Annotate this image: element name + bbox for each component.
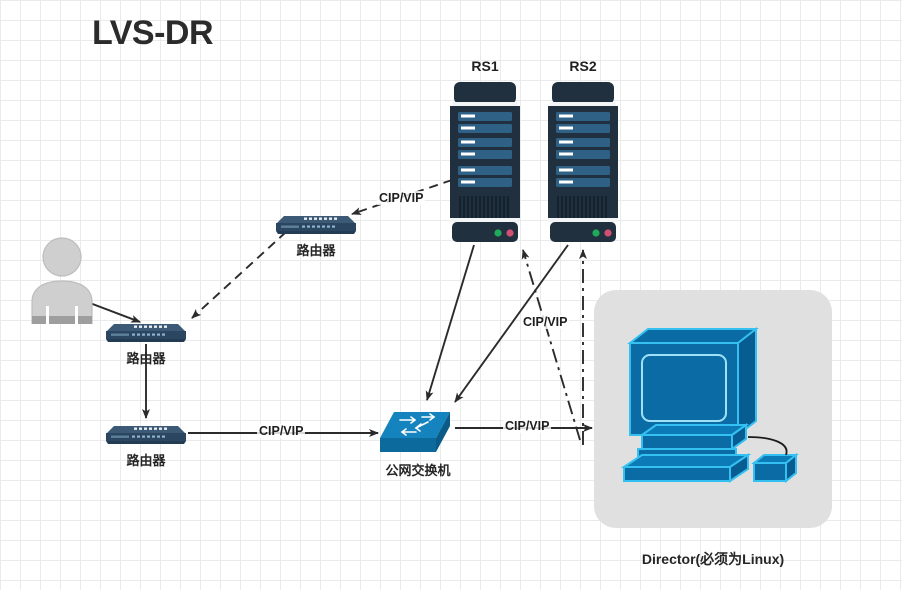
router-top-node — [276, 208, 356, 236]
person-icon — [26, 236, 98, 324]
switch-icon — [378, 408, 456, 460]
router-mid-label: 路由器 — [106, 348, 186, 367]
rs2-label: RS2 — [548, 58, 618, 74]
router-bottom-node — [106, 418, 186, 446]
router-icon — [106, 316, 186, 344]
edge-rs1-to-switch — [427, 245, 474, 400]
edge-label-cip-vip-bottom-right: CIP/VIP — [503, 419, 551, 433]
desktop-computer-icon — [620, 325, 810, 495]
router-bottom-label: 路由器 — [106, 450, 186, 469]
router-mid-node — [106, 316, 186, 344]
rs1-node — [450, 82, 520, 244]
server-icon — [548, 82, 618, 244]
director-label: Director(必须为Linux) — [603, 549, 823, 569]
switch-node — [378, 408, 456, 460]
director-node — [620, 325, 810, 495]
client-user-node — [26, 236, 98, 324]
server-icon — [450, 82, 520, 244]
rs2-node — [548, 82, 618, 244]
router-top-label: 路由器 — [276, 240, 356, 259]
edge-label-cip-vip-top: CIP/VIP — [377, 191, 425, 205]
diagram-canvas: LVS-DR — [0, 0, 902, 590]
switch-label: 公网交换机 — [368, 460, 468, 479]
router-icon — [106, 418, 186, 446]
rs1-label: RS1 — [450, 58, 520, 74]
edge-label-cip-vip-bottom-left: CIP/VIP — [257, 424, 305, 438]
edge-router-top-to-router-mid — [192, 232, 286, 318]
edge-director-to-rs1 — [523, 250, 580, 440]
router-icon — [276, 208, 356, 236]
page-title: LVS-DR — [92, 14, 213, 53]
edge-label-cip-vip-mid: CIP/VIP — [521, 315, 569, 329]
